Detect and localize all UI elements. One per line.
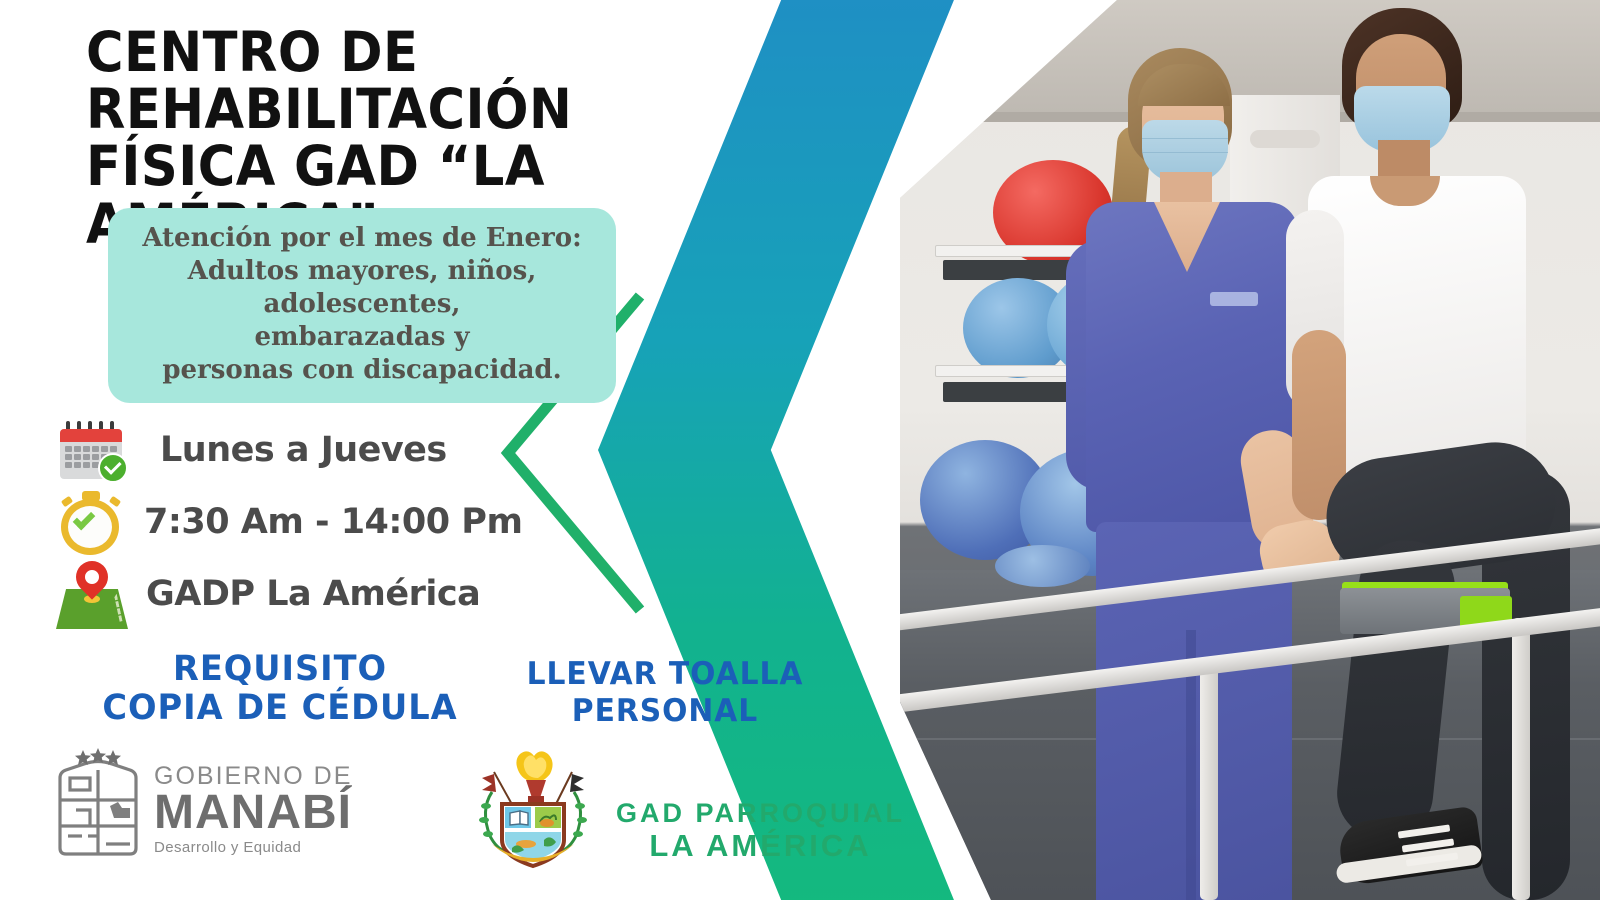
info-line: Adultos mayores, niños, xyxy=(124,255,600,288)
gad-wordmark: GAD PARROQUIAL LA AMÉRICA xyxy=(616,798,905,864)
parallel-bar-post xyxy=(1200,660,1218,900)
info-line: embarazadas y xyxy=(124,321,600,354)
mask-fold xyxy=(1142,152,1228,153)
gad-line-2: LA AMÉRICA xyxy=(616,829,905,864)
detail-row-days: Lunes a Jueves xyxy=(46,416,606,484)
detail-hours-text: 7:30 Am - 14:00 Pm xyxy=(142,502,522,542)
gad-line-1: GAD PARROQUIAL xyxy=(616,798,905,829)
requirement-note: REQUISITO COPIA DE CÉDULA xyxy=(88,650,472,728)
calendar-check-icon xyxy=(46,417,142,483)
attention-info-box: Atención por el mes de Enero: Adultos ma… xyxy=(108,208,616,403)
green-check-badge xyxy=(98,453,128,483)
scrub-logo xyxy=(1210,292,1258,306)
detail-days-text: Lunes a Jueves xyxy=(142,430,447,470)
detail-row-hours: 7:30 Am - 14:00 Pm xyxy=(46,488,606,556)
manabi-tagline: Desarrollo y Equidad xyxy=(154,839,352,856)
stopwatch-check-icon xyxy=(46,489,142,555)
parallel-bar-post xyxy=(1512,618,1530,900)
clinic-photo: ✦ xyxy=(900,0,1600,900)
manabi-shield-icon xyxy=(52,748,144,858)
info-line: personas con discapacidad. xyxy=(124,354,600,387)
requirement-line-2: COPIA DE CÉDULA xyxy=(88,689,472,728)
title-line-1: CENTRO DE REHABILITACIÓN xyxy=(86,20,572,141)
manabi-government-logo: GOBIERNO DE MANABÍ Desarrollo y Equidad xyxy=(52,748,352,858)
info-line: adolescentes, xyxy=(124,288,600,321)
info-line: Atención por el mes de Enero: xyxy=(124,222,600,255)
gad-parroquial-logo: GAD PARROQUIAL LA AMÉRICA xyxy=(468,748,905,873)
requirement-line-1: REQUISITO xyxy=(88,650,472,689)
patient-figure xyxy=(1270,0,1600,900)
poster-canvas: ✦ xyxy=(0,0,1600,900)
map-pin-icon xyxy=(46,561,142,627)
manabi-line-2: MANABÍ xyxy=(154,789,352,838)
mask-fold xyxy=(1142,138,1228,139)
towel-line-1: LLEVAR TOALLA xyxy=(478,656,852,693)
towel-note: LLEVAR TOALLA PERSONAL xyxy=(478,656,852,730)
schedule-details: Lunes a Jueves 7:30 Am - 14:00 Pm xyxy=(46,416,606,632)
manabi-wordmark: GOBIERNO DE MANABÍ Desarrollo y Equidad xyxy=(154,748,352,856)
gad-coat-of-arms-icon xyxy=(468,748,598,873)
detail-row-location: GADP La América xyxy=(46,560,606,628)
towel-line-2: PERSONAL xyxy=(478,693,852,730)
detail-location-text: GADP La América xyxy=(142,574,480,614)
